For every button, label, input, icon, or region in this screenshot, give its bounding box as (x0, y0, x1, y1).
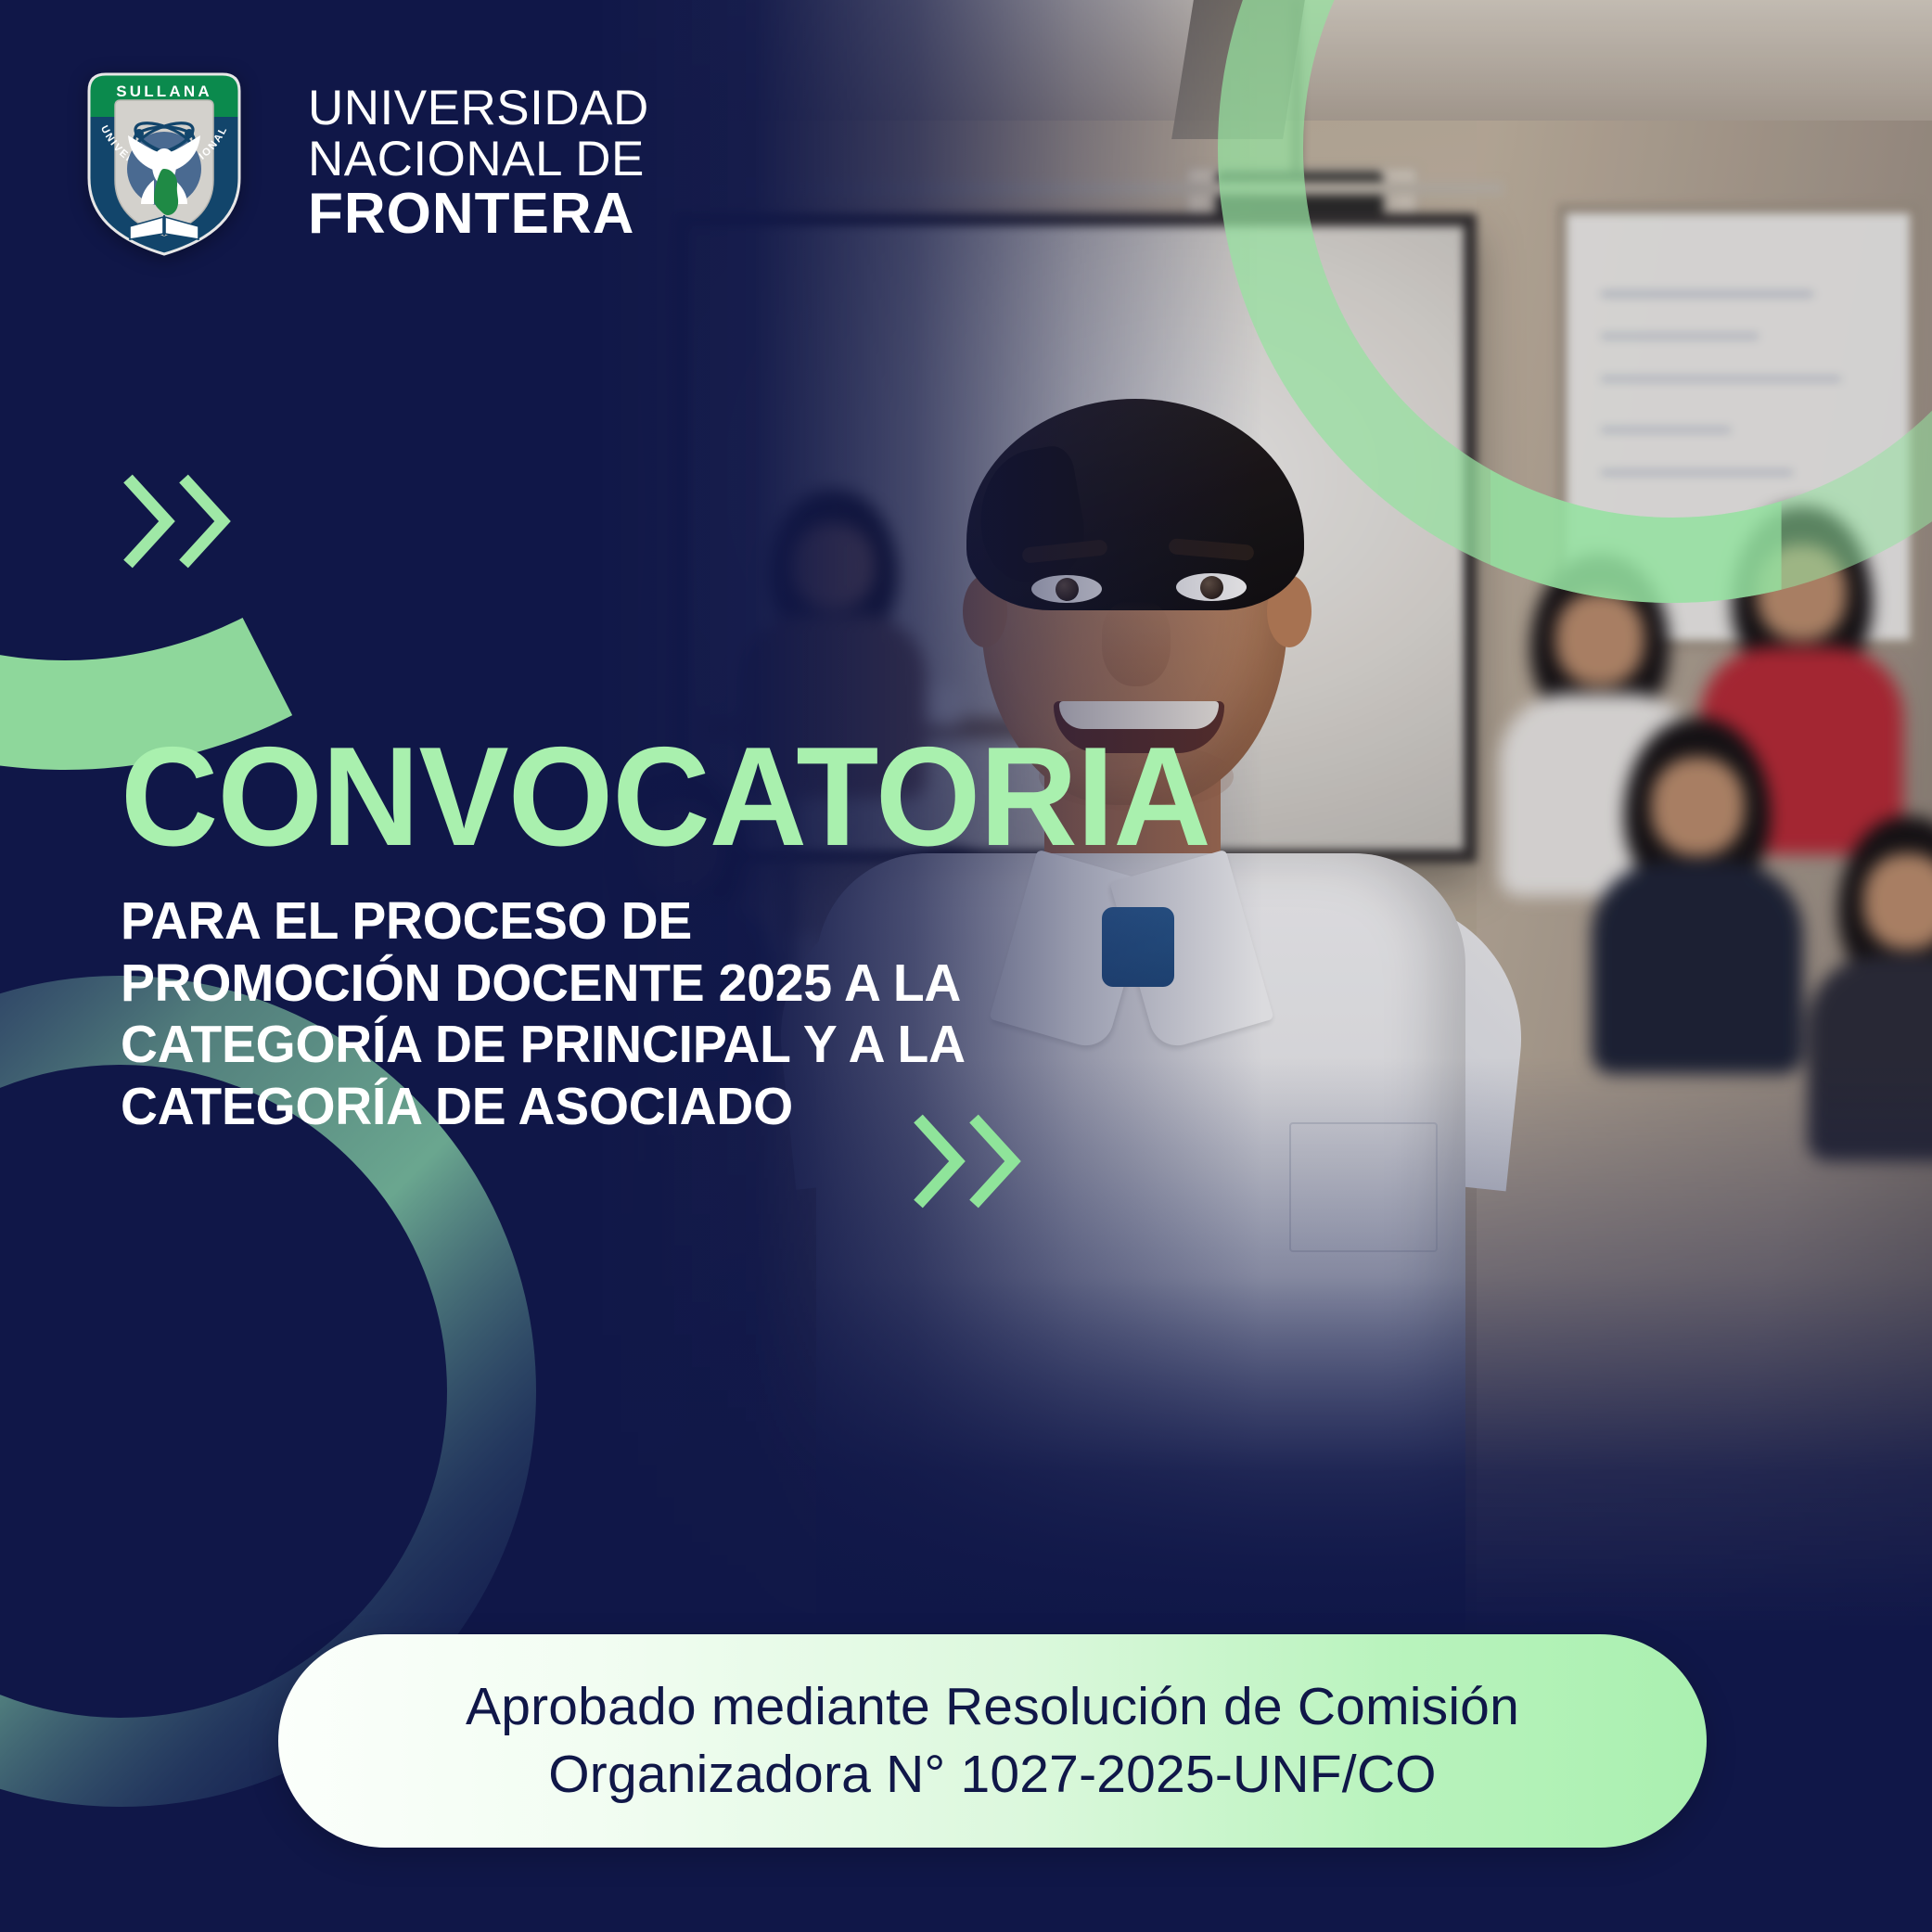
approval-banner-text: Aprobado mediante Resolución de Comisión… (401, 1673, 1584, 1809)
double-chevron-right-icon-top (119, 469, 234, 573)
uni-name-line-3: FRONTERA (308, 185, 649, 244)
page-subtitle: PARA EL PROCESO DE PROMOCIÓN DOCENTE 202… (121, 890, 984, 1138)
svg-text:SULLANA: SULLANA (116, 83, 212, 100)
approval-line-2: Organizadora N° 1027-2025-UNF/CO (548, 1745, 1436, 1804)
uni-name-line-1: UNIVERSIDAD (308, 83, 649, 134)
uni-name-line-2: NACIONAL DE (308, 134, 649, 186)
brand-lockup: SULLANA UNIVERSIDAD NACIONAL DE FRONTERA (82, 69, 649, 259)
university-name: UNIVERSIDAD NACIONAL DE FRONTERA (308, 83, 649, 244)
unf-shield-logo-icon: SULLANA UNIVERSIDAD NACIONAL DE FRONTERA (82, 69, 247, 259)
photo-bottom-fade (594, 1057, 1932, 1632)
page-title: CONVOCATORIA (121, 733, 1210, 863)
approval-line-1: Aprobado mediante Resolución de Comisión (466, 1677, 1519, 1736)
headline-block: CONVOCATORIA PARA EL PROCESO DE PROMOCIÓ… (121, 733, 1256, 1138)
poster-canvas: SULLANA UNIVERSIDAD NACIONAL DE FRONTERA (0, 0, 1932, 1932)
approval-banner: Aprobado mediante Resolución de Comisión… (278, 1634, 1707, 1848)
